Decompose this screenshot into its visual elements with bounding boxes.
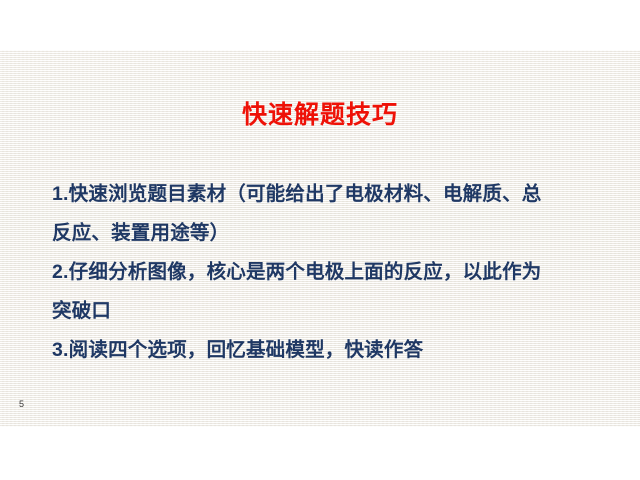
body-line-5: 3.阅读四个选项，回忆基础模型，快读作答: [52, 331, 608, 370]
slide-title: 快速解题技巧: [0, 102, 640, 130]
presentation-slide: 快速解题技巧 1.快速浏览题目素材（可能给出了电极材料、电解质、总 反应、装置用…: [0, 50, 640, 427]
slide-page-number: 5: [19, 400, 24, 409]
slide-content: 快速解题技巧 1.快速浏览题目素材（可能给出了电极材料、电解质、总 反应、装置用…: [0, 50, 640, 427]
body-line-4: 突破口: [52, 292, 608, 331]
body-line-3: 2.仔细分析图像，核心是两个电极上面的反应，以此作为: [52, 253, 608, 292]
body-line-2: 反应、装置用途等）: [52, 214, 608, 253]
slide-body: 1.快速浏览题目素材（可能给出了电极材料、电解质、总 反应、装置用途等） 2.仔…: [52, 175, 608, 370]
body-line-1: 1.快速浏览题目素材（可能给出了电极材料、电解质、总: [52, 175, 608, 214]
slide-viewer: 快速解题技巧 1.快速浏览题目素材（可能给出了电极材料、电解质、总 反应、装置用…: [0, 0, 640, 480]
